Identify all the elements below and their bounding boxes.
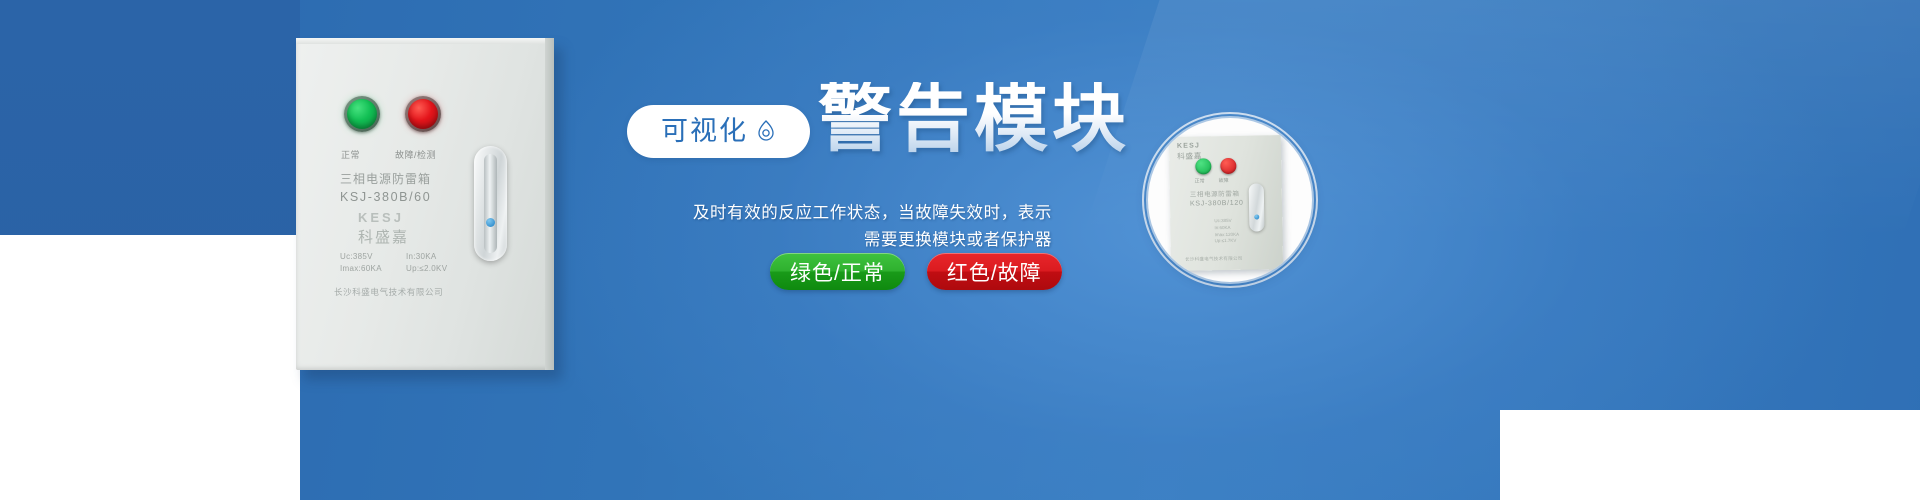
status-badge-group: 绿色/正常 红色/故障 [770,253,1062,290]
handle-lock-dot [486,218,495,227]
device-enclosure [296,38,552,370]
device-spec-in: In:30KA [406,252,437,261]
visualization-pill: 可视化 [627,105,810,158]
lamp-label-fault: 故障/检测 [395,148,436,161]
visualization-pill-label: 可视化 [661,118,748,145]
device-spec-uc: Uc:385V [340,252,373,261]
status-badge-normal: 绿色/正常 [770,253,905,290]
banner-subtitle: 及时有效的反应工作状态，当故障失效时，表示 需要更换模块或者保护器 [640,200,1052,254]
subtitle-line-1: 及时有效的反应工作状态，当故障失效时，表示 [640,200,1052,227]
device-spec-imax: Imax:60KA [340,264,382,273]
device-right-edge [545,38,554,370]
device-spec-up: Up:≤2.0KV [406,264,447,273]
device-top-edge [296,38,552,44]
inset-door-handle [1249,183,1265,231]
location-pin-icon [756,120,776,144]
status-badge-fault: 红色/故障 [927,253,1062,290]
background-white-strip [1500,410,1920,500]
inset-handle-lock-dot [1254,214,1259,219]
inset-company-name: 长沙科盛电气技术有限公司 [1185,256,1243,263]
inset-device-enclosure: KESJ 科盛嘉 正常 故障 三相电源防雷箱 KSJ-380B/120 Uc:3… [1169,135,1283,271]
background-white-wedge [0,235,300,500]
indicator-lamp-green [344,96,380,132]
device-brand-latin: KESJ [358,210,404,225]
device-product-title: 三相电源防雷箱 [340,170,490,187]
lamp-dome [347,99,377,129]
inset-indicator-lamp-red [1220,158,1236,174]
inset-lamp-label-normal: 正常 [1195,177,1205,184]
indicator-lamp-red [405,96,441,132]
device-model-number: KSJ-380B/60 [340,190,431,204]
inset-product-title: 三相电源防雷箱 [1190,188,1240,199]
inset-brand-latin: KESJ [1177,142,1200,149]
inset-indicator-lamp-green [1195,158,1211,174]
device-inset-image: KESJ 科盛嘉 正常 故障 三相电源防雷箱 KSJ-380B/120 Uc:3… [1148,118,1312,282]
inset-model-number: KSJ-380B/120 [1190,200,1244,208]
inset-lamp-label-fault: 故障 [1219,177,1229,184]
inset-spec-block: Uc:385V In:60KA Imax:120KA Up:≤1.7KV [1214,218,1239,245]
device-brand-chinese: 科盛嘉 [358,226,409,247]
promo-banner: 正常 故障/检测 三相电源防雷箱 KSJ-380B/60 KESJ 科盛嘉 Uc… [0,0,1920,500]
device-company-name: 长沙科盛电气技术有限公司 [334,286,443,298]
device-door-handle [474,146,507,261]
lamp-label-normal: 正常 [341,148,360,161]
device-main-image: 正常 故障/检测 三相电源防雷箱 KSJ-380B/60 KESJ 科盛嘉 Uc… [296,38,554,373]
subtitle-line-2: 需要更换模块或者保护器 [640,227,1052,254]
lamp-dome [408,99,438,129]
handle-inner [484,154,497,253]
banner-headline: 警告模块 [818,82,1130,156]
